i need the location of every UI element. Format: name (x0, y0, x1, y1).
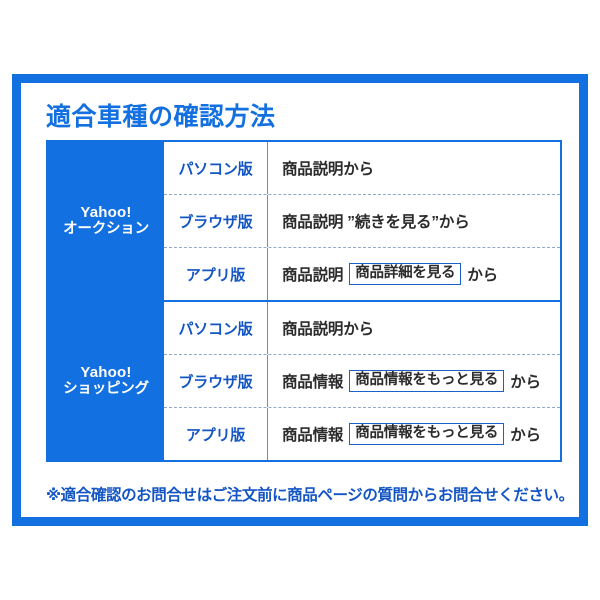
page-title: 適合車種の確認方法 (46, 97, 276, 133)
instruction-suffix: から (467, 263, 498, 285)
platform-label-app: アプリ版 (164, 248, 268, 300)
brand-label-line1: Yahoo! (80, 364, 131, 382)
platform-label-browser: ブラウザ版 (164, 195, 268, 247)
brand-cell-yahoo-auction: Yahoo! オークション (48, 142, 164, 300)
frame-inner-panel: 適合車種の確認方法 Yahoo! オークション パソコン版 (21, 83, 579, 517)
platform-label-browser: ブラウザ版 (164, 355, 268, 407)
section-row: Yahoo! オークション パソコン版 商品説明から ブ (48, 142, 560, 300)
instruction-suffix: から (510, 370, 541, 392)
instruction-cell: 商品説明から (268, 142, 560, 194)
page-canvas: 適合車種の確認方法 Yahoo! オークション パソコン版 (0, 0, 600, 600)
boxed-button-label[interactable]: 商品詳細を見る (349, 263, 461, 285)
instruction-prefix: 商品説明 ”続きを見る”から (282, 210, 470, 232)
footer-note: ※適合確認のお問合せはご注文前に商品ページの質問からお問合せください。 (46, 483, 566, 505)
platform-label-pc: パソコン版 (164, 302, 268, 354)
platform-label-pc: パソコン版 (164, 142, 268, 194)
brand-label-line1: Yahoo! (80, 204, 131, 222)
table-row: ブラウザ版 商品情報 商品情報をもっと見る から (164, 354, 560, 407)
table-row: パソコン版 商品説明から (164, 142, 560, 194)
table-section-yahoo-shopping: Yahoo! ショッピング パソコン版 商品説明から ブ (48, 300, 560, 460)
table-row: アプリ版 商品説明 商品詳細を見る から (164, 247, 560, 300)
instruction-cell: 商品説明 ”続きを見る”から (268, 195, 560, 247)
table-row: アプリ版 商品情報 商品情報をもっと見る から (164, 407, 560, 460)
instruction-cell: 商品説明から (268, 302, 560, 354)
instruction-cell: 商品説明 商品詳細を見る から (268, 248, 560, 300)
platform-label-app: アプリ版 (164, 408, 268, 460)
table-row: ブラウザ版 商品説明 ”続きを見る”から (164, 194, 560, 247)
table-row: パソコン版 商品説明から (164, 302, 560, 354)
instruction-prefix: 商品情報 (282, 370, 343, 392)
brand-label-line2: ショッピング (63, 381, 149, 398)
rows-column: パソコン版 商品説明から ブラウザ版 商品情報 商品情報をもっと見る (164, 302, 560, 460)
brand-label-line2: オークション (63, 221, 149, 238)
boxed-button-label[interactable]: 商品情報をもっと見る (349, 370, 504, 392)
table-section-yahoo-auction: Yahoo! オークション パソコン版 商品説明から ブ (48, 142, 560, 300)
rows-column: パソコン版 商品説明から ブラウザ版 商品説明 ”続きを見る”から (164, 142, 560, 300)
instruction-cell: 商品情報 商品情報をもっと見る から (268, 355, 560, 407)
section-row: Yahoo! ショッピング パソコン版 商品説明から ブ (48, 302, 560, 460)
instruction-prefix: 商品説明から (282, 317, 374, 339)
instruction-cell: 商品情報 商品情報をもっと見る から (268, 408, 560, 460)
brand-cell-yahoo-shopping: Yahoo! ショッピング (48, 302, 164, 460)
instruction-suffix: から (510, 423, 541, 445)
instruction-prefix: 商品説明から (282, 157, 374, 179)
instruction-prefix: 商品情報 (282, 423, 343, 445)
compatibility-table: Yahoo! オークション パソコン版 商品説明から ブ (46, 140, 562, 462)
instruction-prefix: 商品説明 (282, 263, 343, 285)
boxed-button-label[interactable]: 商品情報をもっと見る (349, 423, 504, 445)
blue-outer-frame: 適合車種の確認方法 Yahoo! オークション パソコン版 (12, 74, 588, 526)
